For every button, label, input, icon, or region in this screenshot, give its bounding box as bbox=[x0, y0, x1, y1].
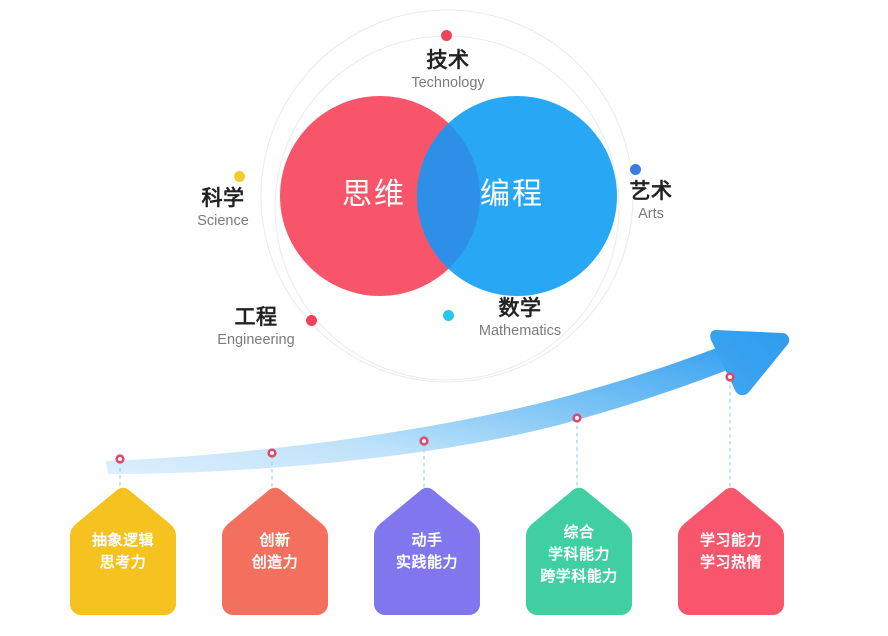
card-line: 学习能力 bbox=[678, 530, 784, 552]
stem-label-technology: 技术 Technology bbox=[378, 50, 518, 91]
stem-label-science: 科学 Science bbox=[170, 188, 276, 229]
card-label-1: 抽象逻辑 思考力 bbox=[70, 530, 176, 574]
card-label-3: 动手 实践能力 bbox=[374, 530, 480, 574]
card-line: 跨学科能力 bbox=[526, 566, 632, 588]
card-line: 思考力 bbox=[70, 552, 176, 574]
venn-label-thinking: 思维 bbox=[342, 180, 406, 210]
card-line: 创造力 bbox=[222, 552, 328, 574]
card-hands-on[interactable]: 动手 实践能力 bbox=[374, 487, 480, 615]
arrow-node-marker-5 bbox=[725, 372, 734, 381]
mathematics-dot bbox=[443, 310, 454, 321]
arrow-node-marker-4 bbox=[572, 413, 581, 422]
card-line: 学习热情 bbox=[678, 552, 784, 574]
card-label-2: 创新 创造力 bbox=[222, 530, 328, 574]
card-line: 动手 bbox=[374, 530, 480, 552]
card-line: 综合 bbox=[526, 522, 632, 544]
card-label-4: 综合 学科能力 跨学科能力 bbox=[526, 522, 632, 587]
stem-label-engineering: 工程 Engineering bbox=[196, 307, 316, 348]
technology-en: Technology bbox=[378, 76, 518, 91]
science-en: Science bbox=[170, 214, 276, 229]
card-line: 抽象逻辑 bbox=[70, 530, 176, 552]
engineering-en: Engineering bbox=[196, 333, 316, 348]
card-line: 学科能力 bbox=[526, 544, 632, 566]
growth-arrow-head bbox=[710, 330, 789, 395]
card-innovation[interactable]: 创新 创造力 bbox=[222, 487, 328, 615]
card-line: 创新 bbox=[222, 530, 328, 552]
stem-label-arts: 艺术 Arts bbox=[612, 181, 690, 222]
mathematics-cn: 数学 bbox=[462, 298, 578, 319]
arrow-node-marker-1 bbox=[115, 454, 124, 463]
science-dot bbox=[234, 171, 245, 182]
card-label-5: 学习能力 学习热情 bbox=[678, 530, 784, 574]
card-abstract-logic[interactable]: 抽象逻辑 思考力 bbox=[70, 487, 176, 615]
mathematics-en: Mathematics bbox=[462, 324, 578, 339]
science-cn: 科学 bbox=[170, 188, 276, 209]
stem-label-mathematics: 数学 Mathematics bbox=[462, 298, 578, 339]
venn-label-programming: 编程 bbox=[480, 180, 544, 210]
card-learning-ability[interactable]: 学习能力 学习热情 bbox=[678, 487, 784, 615]
arrow-node-marker-3 bbox=[419, 436, 428, 445]
arts-cn: 艺术 bbox=[612, 181, 690, 202]
technology-cn: 技术 bbox=[378, 50, 518, 71]
arts-en: Arts bbox=[612, 207, 690, 222]
infographic-canvas: 思维 编程 技术 Technology 科学 Science 艺术 Arts 工… bbox=[0, 0, 888, 636]
growth-arrow-body bbox=[106, 337, 752, 474]
engineering-cn: 工程 bbox=[196, 307, 316, 328]
arts-dot bbox=[630, 164, 641, 175]
technology-dot bbox=[441, 30, 452, 41]
arrow-node-marker-2 bbox=[267, 448, 276, 457]
card-line: 实践能力 bbox=[374, 552, 480, 574]
card-comprehensive[interactable]: 综合 学科能力 跨学科能力 bbox=[526, 487, 632, 615]
